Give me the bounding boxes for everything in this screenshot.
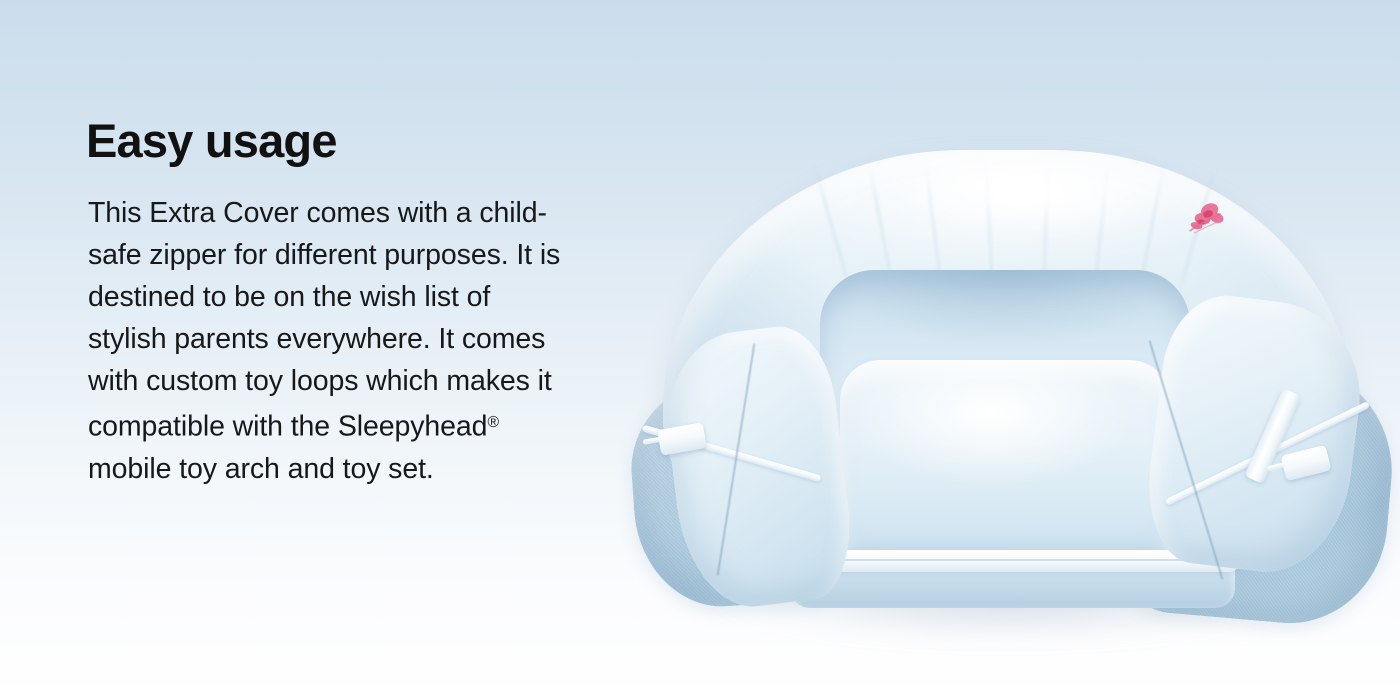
- registered-trademark-mark: ®: [487, 414, 499, 431]
- body-text-part-one: This Extra Cover comes with a child-safe…: [88, 197, 560, 443]
- inner-mattress: [840, 360, 1170, 565]
- product-image: [615, 150, 1400, 610]
- body-text-part-two: mobile toy arch and toy set.: [88, 453, 434, 485]
- easy-usage-banner: Easy usage This Extra Cover comes with a…: [0, 0, 1400, 700]
- bumper-highlight: [873, 154, 1203, 234]
- text-column: Easy usage This Extra Cover comes with a…: [86, 112, 586, 490]
- page-title: Easy usage: [86, 112, 586, 170]
- body-paragraph: This Extra Cover comes with a child-safe…: [88, 192, 568, 490]
- pink-floral-logo-icon: [1174, 196, 1241, 246]
